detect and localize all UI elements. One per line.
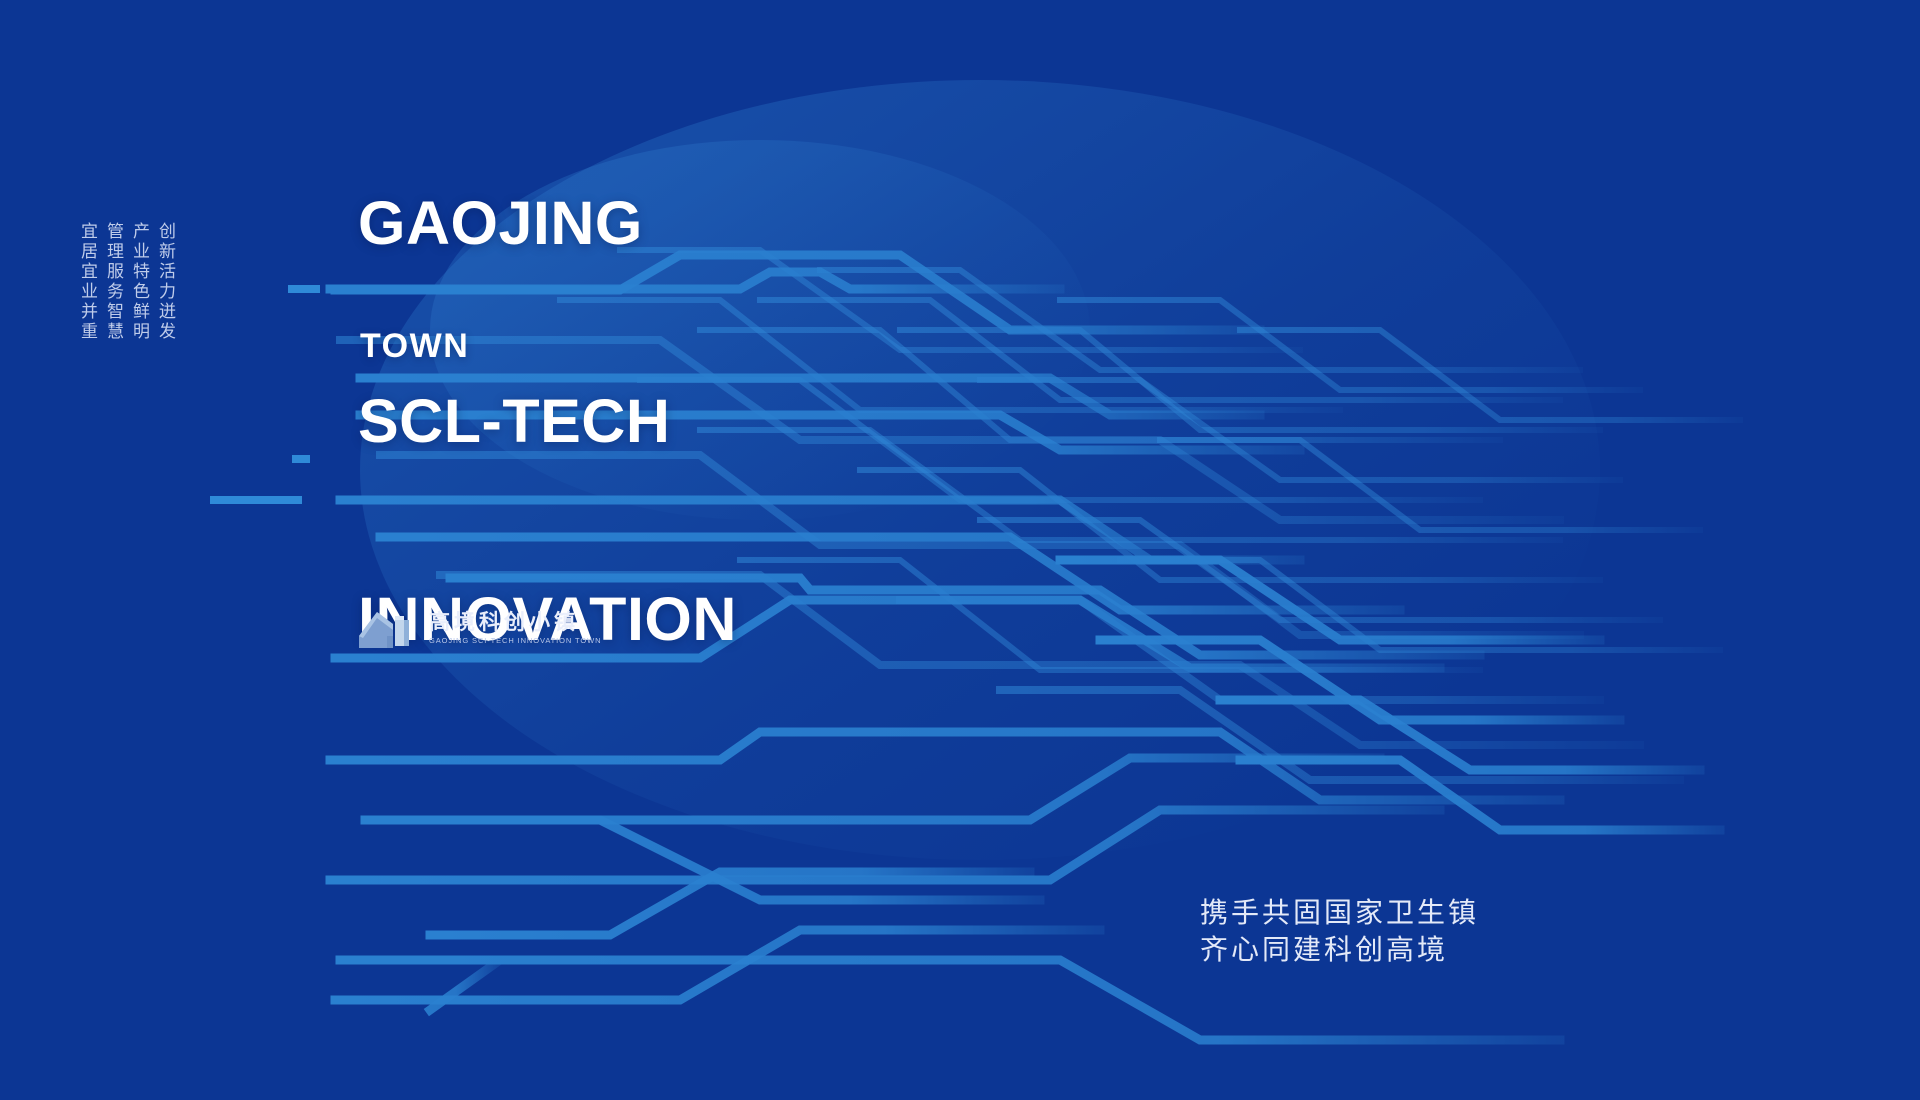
headline-line-4: TOWN bbox=[360, 327, 469, 366]
vertical-slogan: 创新活力迸发 产业特色鲜明 管理服务智慧 宜居宜业并重 bbox=[76, 222, 176, 342]
circuit-pattern-background bbox=[0, 0, 1920, 1100]
vertical-slogan-col-3: 管理服务智慧 bbox=[102, 222, 124, 342]
logo-wordmark: 高境科创小镇 GAOJING SCI-TECH INNOVATION TOWN bbox=[429, 610, 601, 646]
house-building-icon bbox=[357, 606, 419, 650]
headline-line-2: SCL-TECH bbox=[358, 388, 737, 454]
vertical-slogan-col-2: 产业特色鲜明 bbox=[128, 222, 150, 342]
vertical-slogan-col-4: 宜居宜业并重 bbox=[76, 222, 98, 342]
logo-chinese-name: 高境科创小镇 bbox=[429, 610, 601, 634]
logo-english-name: GAOJING SCI-TECH INNOVATION TOWN bbox=[429, 636, 601, 646]
bottom-slogan-line-2: 齐心同建科创高境 bbox=[1200, 931, 1479, 968]
bottom-slogan: 携手共固国家卫生镇 齐心同建科创高境 bbox=[1200, 894, 1479, 968]
poster-canvas: 创新活力迸发 产业特色鲜明 管理服务智慧 宜居宜业并重 GAOJING SCL-… bbox=[0, 0, 1920, 1100]
headline-line-1: GAOJING bbox=[358, 190, 737, 256]
page-title: GAOJING SCL-TECH INNOVATION bbox=[358, 58, 737, 784]
bottom-slogan-line-1: 携手共固国家卫生镇 bbox=[1200, 894, 1479, 931]
brand-logo: 高境科创小镇 GAOJING SCI-TECH INNOVATION TOWN bbox=[357, 606, 601, 650]
vertical-slogan-col-1: 创新活力迸发 bbox=[154, 222, 176, 342]
